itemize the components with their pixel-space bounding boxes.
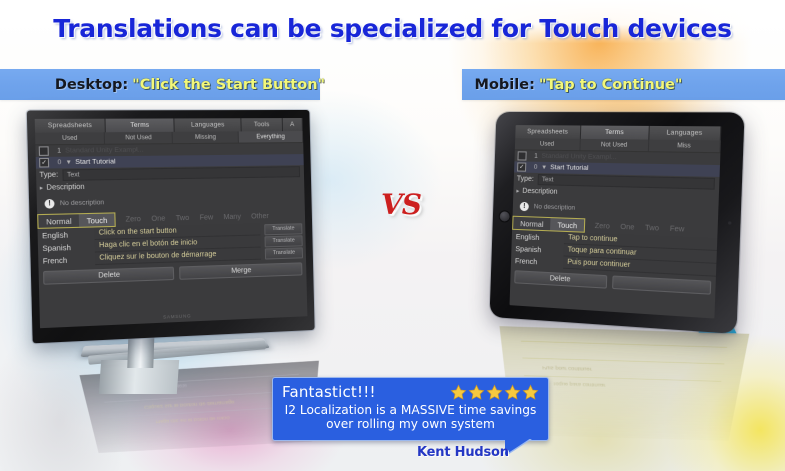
- plural-two[interactable]: Two: [176, 214, 190, 222]
- warning-icon: !: [520, 202, 529, 211]
- row-label: Standard Unity Exampl...: [65, 147, 144, 155]
- row-checkbox[interactable]: [39, 146, 49, 156]
- plural-one[interactable]: One: [151, 215, 165, 223]
- language-label: French: [38, 254, 91, 265]
- mobile-header-label: Mobile:: [475, 77, 535, 93]
- specialization-highlight: Normal Touch: [512, 216, 586, 233]
- spec-tab-normal[interactable]: Normal: [513, 217, 551, 231]
- no-description-text: No description: [60, 199, 104, 207]
- language-label: Spanish: [38, 242, 91, 253]
- filter-funnel-icon: ▼: [65, 159, 72, 165]
- row-checkbox[interactable]: ✓: [39, 158, 49, 168]
- plural-zero[interactable]: Zero: [595, 222, 610, 230]
- plural-one[interactable]: One: [620, 223, 634, 231]
- mobile-header-bar: Mobile: "Tap to Continue": [462, 69, 785, 100]
- mobile-header-quote: "Tap to Continue": [539, 77, 683, 93]
- chevron-right-icon: ▸: [516, 187, 519, 194]
- star-icon: [450, 384, 467, 401]
- filter-used[interactable]: Used: [515, 138, 581, 150]
- tab-languages[interactable]: Languages: [649, 126, 721, 140]
- no-description-text: No description: [534, 203, 576, 211]
- plural-two[interactable]: Two: [645, 224, 659, 232]
- language-label: English: [38, 229, 91, 240]
- testimonial-body: I2 Localization is a MASSIVE time saving…: [282, 403, 539, 432]
- plural-zero[interactable]: Zero: [125, 215, 140, 223]
- desktop-header-label: Desktop:: [55, 77, 128, 93]
- plural-other[interactable]: Other: [251, 212, 269, 219]
- translate-button[interactable]: Translate: [264, 235, 302, 247]
- language-label: French: [511, 255, 559, 267]
- testimonial-box: Fantastict!!! I2 Localization is a MASSI…: [272, 377, 549, 441]
- tab-languages[interactable]: Languages: [174, 118, 241, 132]
- mobile-app-screen: Spreadsheets Terms Languages Used Not Us…: [510, 125, 722, 318]
- row-count: 0: [53, 159, 65, 167]
- testimonial-callout: Fantastict!!! I2 Localization is a MASSI…: [272, 377, 549, 441]
- spec-tab-normal[interactable]: Normal: [38, 214, 79, 228]
- row-label: Start Tutorial: [550, 164, 589, 172]
- desktop-header-bar: Desktop: "Click the Start Button": [0, 69, 320, 100]
- chevron-right-icon: ▸: [40, 184, 44, 191]
- spec-tab-touch[interactable]: Touch: [79, 213, 115, 226]
- language-label: English: [512, 231, 560, 242]
- mobile-tablet: Spreadsheets Terms Languages Used Not Us…: [490, 112, 745, 334]
- spec-tab-touch[interactable]: Touch: [550, 218, 584, 232]
- star-icon: [468, 384, 485, 401]
- filter-everything[interactable]: Everything: [239, 131, 304, 143]
- rating-stars: [450, 384, 539, 401]
- type-label: Type:: [39, 171, 58, 179]
- tab-tools[interactable]: Tools: [241, 118, 282, 131]
- language-label: Spanish: [511, 243, 559, 254]
- merge-button[interactable]: [612, 275, 711, 294]
- filter-not-used[interactable]: Not Used: [580, 139, 649, 151]
- filter-missing[interactable]: Missing: [173, 131, 239, 143]
- row-count: 1: [530, 153, 541, 160]
- row-count: 0: [530, 164, 541, 171]
- row-label: Start Tutorial: [75, 158, 116, 166]
- plural-few[interactable]: Few: [199, 214, 213, 221]
- star-icon: [522, 384, 539, 401]
- desktop-header-quote: "Click the Start Button": [132, 77, 325, 93]
- testimonial-title: Fantastict!!!: [282, 383, 376, 401]
- description-label: Description: [46, 183, 84, 191]
- warning-icon: !: [44, 199, 54, 209]
- tab-spreadsheets[interactable]: Spreadsheets: [35, 119, 106, 133]
- plural-few[interactable]: Few: [670, 225, 685, 233]
- row-checkbox[interactable]: ✓: [517, 162, 526, 171]
- slide-canvas: Translations can be specialized for Touc…: [0, 0, 785, 471]
- camera-icon: [727, 221, 731, 225]
- merge-button[interactable]: Merge: [179, 262, 303, 279]
- filter-missing[interactable]: Miss: [649, 140, 721, 153]
- row-label: Standard Unity Exampl...: [541, 153, 616, 161]
- filter-funnel-icon: ▼: [541, 164, 547, 170]
- row-count: 1: [53, 147, 65, 154]
- type-label: Type:: [517, 175, 534, 182]
- delete-button[interactable]: Delete: [514, 270, 607, 288]
- testimonial-header: Fantastict!!!: [282, 383, 539, 401]
- tab-terms[interactable]: Terms: [581, 126, 650, 140]
- tab-terms[interactable]: Terms: [106, 118, 175, 132]
- filter-not-used[interactable]: Not Used: [105, 132, 173, 144]
- plural-many[interactable]: Many: [223, 213, 241, 221]
- tab-assets[interactable]: A: [282, 118, 302, 131]
- desktop-app-screen: Spreadsheets Terms Languages Tools A Use…: [35, 118, 308, 328]
- page-title: Translations can be specialized for Touc…: [0, 14, 785, 43]
- description-label: Description: [522, 187, 557, 195]
- vs-label: VS: [381, 188, 421, 221]
- star-icon: [504, 384, 521, 401]
- filter-used[interactable]: Used: [35, 132, 105, 144]
- testimonial-author: Kent Hudson: [417, 445, 509, 460]
- translate-button[interactable]: Translate: [264, 223, 302, 235]
- desktop-monitor: Spreadsheets Terms Languages Tools A Use…: [27, 110, 315, 343]
- tab-spreadsheets[interactable]: Spreadsheets: [515, 125, 581, 139]
- star-icon: [486, 384, 503, 401]
- row-checkbox[interactable]: [517, 151, 526, 160]
- translate-button[interactable]: Translate: [265, 247, 303, 259]
- home-button-icon[interactable]: [499, 210, 511, 222]
- delete-button[interactable]: Delete: [43, 267, 174, 285]
